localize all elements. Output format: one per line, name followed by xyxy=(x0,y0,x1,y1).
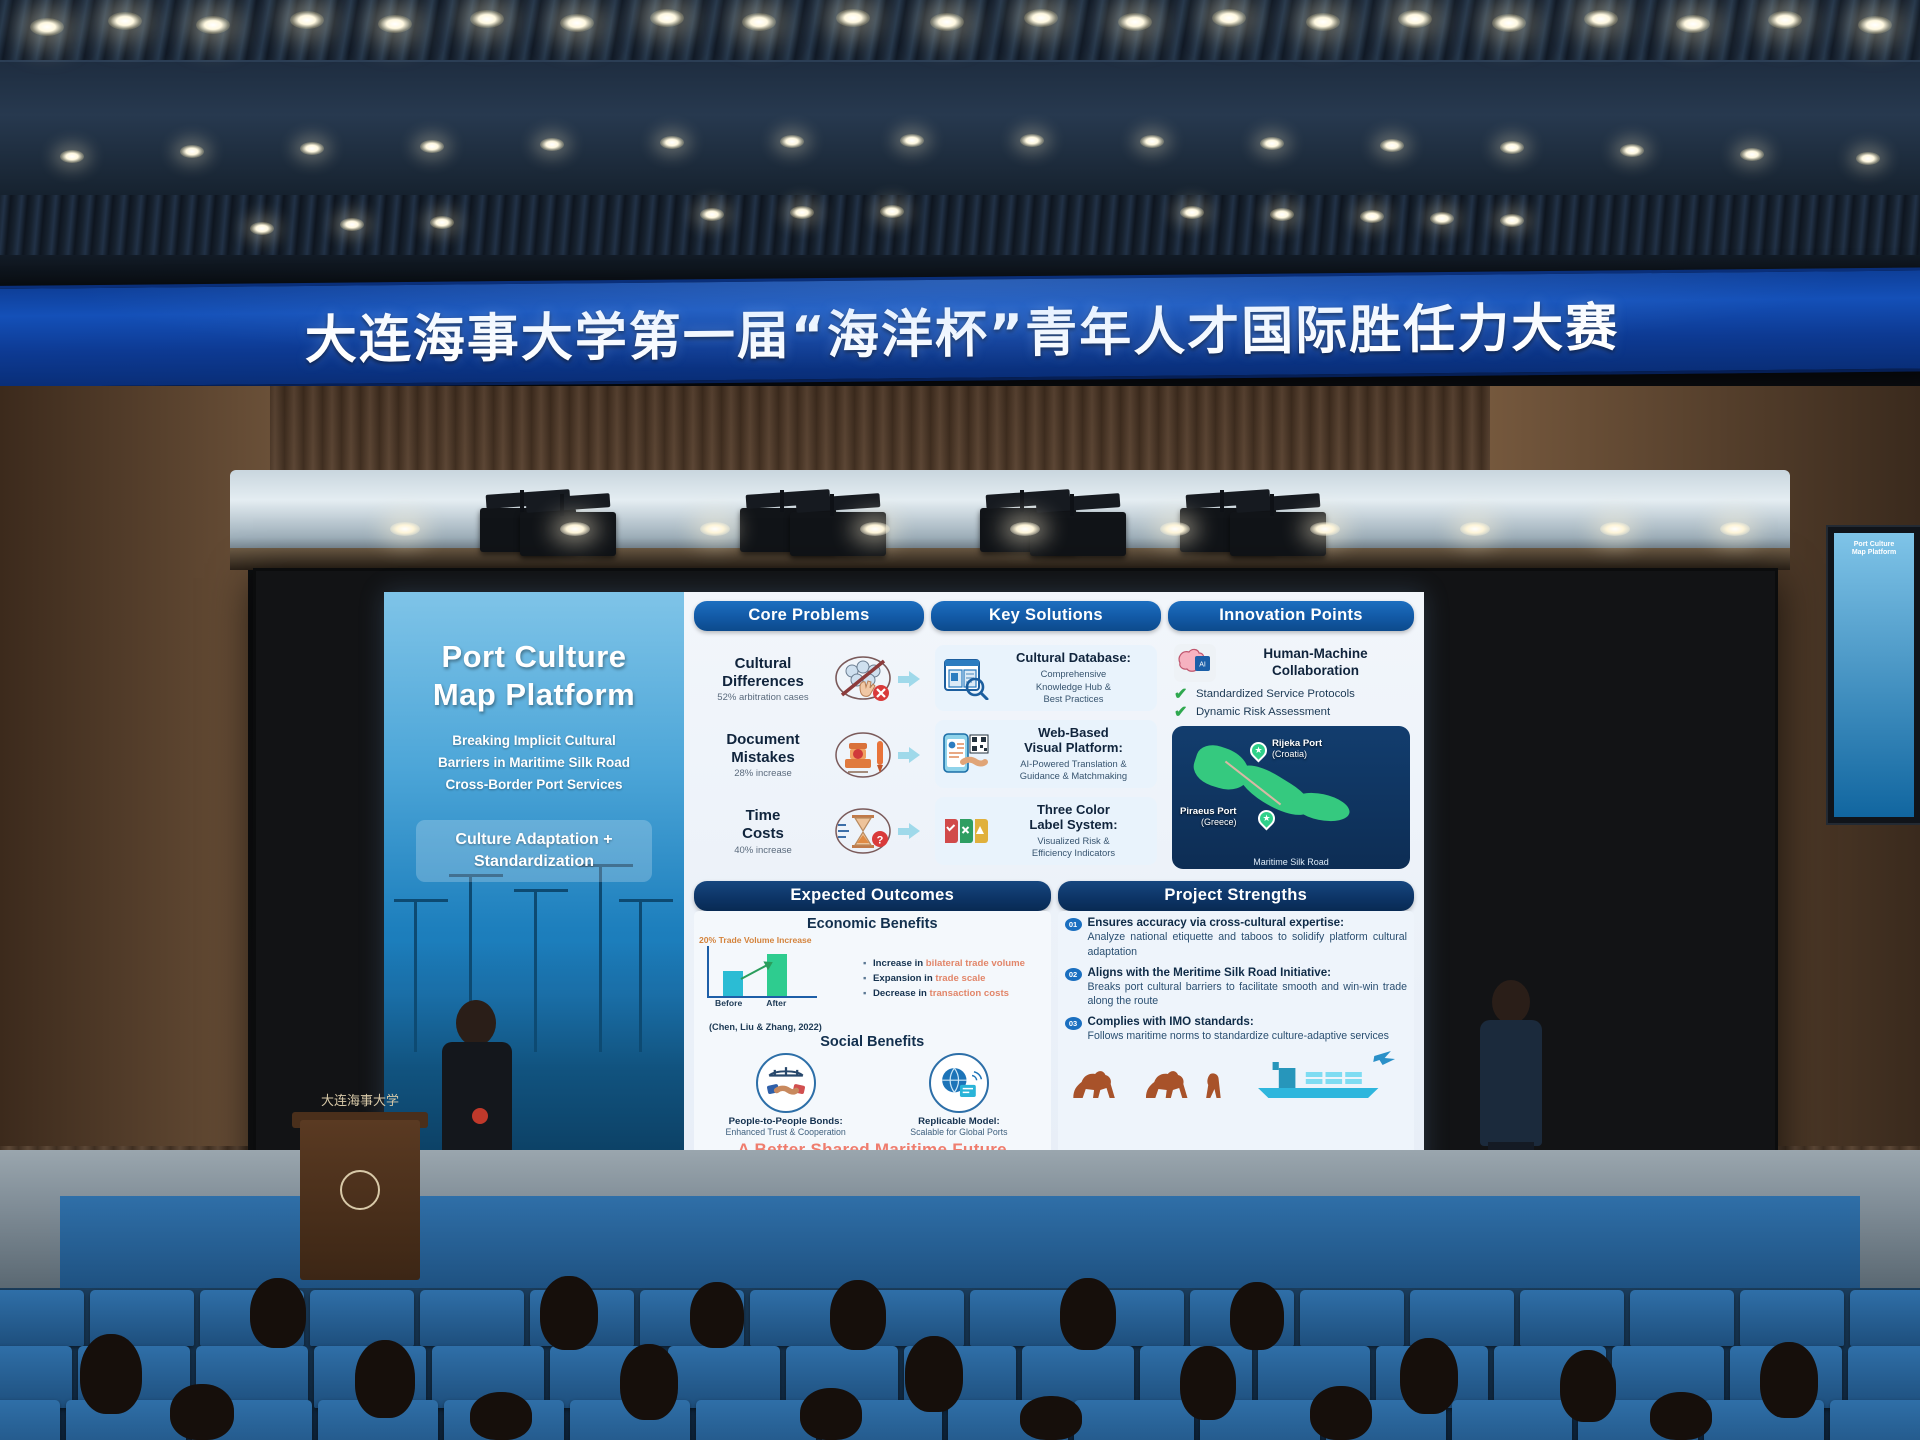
audience-member-head xyxy=(1020,1396,1082,1440)
slide-title-line1: Port Culture xyxy=(400,638,668,676)
auditorium-seat xyxy=(1830,1400,1920,1440)
chart-bar-before xyxy=(723,971,743,996)
no-crowd-hand-icon xyxy=(832,653,894,705)
port-crane xyxy=(414,902,417,1052)
audience-member-head xyxy=(1310,1386,1372,1440)
core-problem-text: CulturalDifferences52% arbitration cases xyxy=(698,655,828,703)
recessed-downlight xyxy=(1720,522,1750,536)
recessed-downlight xyxy=(1010,522,1040,536)
auditorium-seat xyxy=(1074,1400,1194,1440)
svg-text:AI: AI xyxy=(1199,662,1206,669)
recessed-downlight xyxy=(700,522,730,536)
slide-subtitle-line1: Breaking Implicit Cultural xyxy=(400,730,668,752)
auditorium-seat xyxy=(1300,1290,1404,1346)
auditorium-seat xyxy=(0,1346,72,1408)
stamp-pen-icon xyxy=(832,729,894,781)
presenter-head xyxy=(456,1000,496,1046)
audience-area xyxy=(0,1288,1920,1440)
side-monitor-title1: Port Culture xyxy=(1854,541,1894,548)
ceiling-downlight xyxy=(430,216,454,229)
ceiling-downlight xyxy=(780,135,804,148)
column-key-solutions: Key Solutions Cultural Database:Comprehe… xyxy=(931,601,1161,874)
ceiling-downlight xyxy=(660,136,684,149)
ceiling-downlight xyxy=(1140,135,1164,148)
ceiling-downlight xyxy=(60,150,84,163)
innovation-check-label: Standardized Service Protocols xyxy=(1196,687,1355,702)
ceiling-downlight xyxy=(900,134,924,147)
slide-title: Port Culture Map Platform xyxy=(400,638,668,714)
ceiling-band xyxy=(0,60,1920,195)
ceiling-downlight xyxy=(340,218,364,231)
ceiling-spotlight xyxy=(1306,13,1340,31)
audience-member-head xyxy=(470,1392,532,1440)
brain-ai-chip-icon: AI xyxy=(1174,644,1216,682)
ceiling-spotlight xyxy=(30,18,64,36)
map-label-rijeka-name: Rijeka Port xyxy=(1272,738,1322,749)
map-label-piraeus-country: (Greece) xyxy=(1201,817,1237,827)
port-crane-arm xyxy=(619,899,673,902)
ceiling-downlight xyxy=(1500,141,1524,154)
innovation-check-list: ✔Standardized Service Protocols✔Dynamic … xyxy=(1172,686,1410,722)
core-problem-text: DocumentMistakes28% increase xyxy=(698,731,828,779)
social-benefit-desc: Enhanced Trust & Cooperation xyxy=(720,1127,852,1137)
innovation-check-item: ✔Dynamic Risk Assessment xyxy=(1172,704,1410,722)
ceiling-spotlight xyxy=(290,11,324,29)
economic-benefits-citation: (Chen, Liu & Zhang, 2022) xyxy=(709,1022,1046,1032)
core-problem-text: TimeCosts40% increase xyxy=(698,807,828,855)
project-strength-text: Ensures accuracy via cross-cultural expe… xyxy=(1088,915,1408,958)
trade-volume-chart-caption: 20% Trade Volume Increase xyxy=(699,935,817,945)
audience-member-head xyxy=(1180,1346,1236,1420)
ceiling-spotlight xyxy=(1858,16,1892,34)
ceiling-downlight xyxy=(180,145,204,158)
podium-inscription: 大连海事大学 xyxy=(300,1090,420,1109)
auditorium-seat xyxy=(420,1290,524,1346)
ceiling-spotlight xyxy=(1118,13,1152,31)
ceiling-downlight xyxy=(1620,144,1644,157)
project-strength-number: 03 xyxy=(1065,1017,1082,1030)
mobile-qr-handshake-icon xyxy=(941,732,991,776)
key-solution-title: Web-BasedVisual Platform: xyxy=(996,725,1151,756)
port-crane xyxy=(534,892,537,1052)
map-label-rijeka: Rijeka Port (Croatia) xyxy=(1272,738,1322,760)
project-strength-title: Ensures accuracy via cross-cultural expe… xyxy=(1088,915,1408,930)
ceiling-downlight xyxy=(1380,139,1404,152)
social-benefits-row: People-to-People Bonds: Enhanced Trust &… xyxy=(699,1053,1046,1137)
auditorium-seat xyxy=(1740,1290,1844,1346)
audience-member-head xyxy=(905,1336,963,1412)
recessed-downlight xyxy=(1160,522,1190,536)
ceiling-downlight xyxy=(790,206,814,219)
slide-title-line2: Map Platform xyxy=(400,676,668,714)
key-solution-card: Cultural Database:ComprehensiveKnowledge… xyxy=(935,645,1157,710)
map-landmass-3 xyxy=(1290,788,1352,825)
project-strengths-header: Project Strengths xyxy=(1058,881,1415,911)
audience-member-head xyxy=(1760,1342,1818,1418)
ceiling-downlight xyxy=(1856,152,1880,165)
ceiling-spotlight xyxy=(742,13,776,31)
column-core-problems: Core Problems CulturalDifferences52% arb… xyxy=(694,601,924,874)
ceiling-spotlight xyxy=(378,15,412,33)
innovation-check-item: ✔Standardized Service Protocols xyxy=(1172,686,1410,704)
key-solution-title: Cultural Database: xyxy=(996,650,1151,666)
core-problem-row: CulturalDifferences52% arbitration cases xyxy=(698,653,920,705)
recessed-downlight xyxy=(860,522,890,536)
key-solution-desc: ComprehensiveKnowledge Hub &Best Practic… xyxy=(996,668,1151,706)
innovation-check-label: Dynamic Risk Assessment xyxy=(1196,705,1330,720)
project-strength-number: 01 xyxy=(1065,918,1082,931)
ceiling-downlight xyxy=(700,208,724,221)
key-solution-text: Web-BasedVisual Platform:AI-Powered Tran… xyxy=(996,725,1151,783)
ceiling-downlight xyxy=(1500,214,1524,227)
auditorium-seat xyxy=(970,1290,1074,1346)
key-solution-desc: Visualized Risk &Efficiency Indicators xyxy=(996,835,1151,860)
project-strengths-body: 01Ensures accuracy via cross-cultural ex… xyxy=(1058,911,1415,1164)
ceiling-spotlight xyxy=(1584,10,1618,28)
expected-outcomes-header: Expected Outcomes xyxy=(694,881,1051,911)
port-crane-arm xyxy=(514,889,568,892)
economic-benefits-bullets: Increase in bilateral trade volumeExpans… xyxy=(823,951,1046,1002)
event-banner-title: 大连海事大学第一届“海洋杯”青年人才国际胜任力大赛 xyxy=(304,285,1619,373)
ceiling-downlight xyxy=(420,140,444,153)
project-strengths-list: 01Ensures accuracy via cross-cultural ex… xyxy=(1065,915,1408,1043)
slide-hero-panel: Port Culture Map Platform Breaking Impli… xyxy=(384,592,684,1172)
ceiling-downlight xyxy=(1430,212,1454,225)
audience-member-head xyxy=(355,1340,415,1418)
ceiling-downlight xyxy=(1180,206,1204,219)
key-solution-title: Three ColorLabel System: xyxy=(996,802,1151,833)
column-innovation-points: Innovation Points AI Huma xyxy=(1168,601,1414,874)
ceiling-downlight xyxy=(1020,134,1044,147)
ceiling-spotlight xyxy=(560,14,594,32)
slide-top-columns: Core Problems CulturalDifferences52% arb… xyxy=(694,601,1414,874)
hourglass-question-icon: ? xyxy=(832,805,894,857)
map-caption: Maritime Silk Road xyxy=(1172,857,1410,867)
project-strength-desc: Analyze national etiquette and taboos to… xyxy=(1088,930,1408,958)
chart-tick-before: Before xyxy=(715,998,742,1008)
side-monitor-title2: Map Platform xyxy=(1852,549,1896,556)
auditorium-seat xyxy=(696,1400,816,1440)
staff-body xyxy=(1480,1020,1542,1146)
audience-member-head xyxy=(1650,1392,1712,1440)
silk-road-illustration xyxy=(1065,1048,1408,1104)
slide-keyword-badge: Culture Adaptation + Standardization xyxy=(416,820,652,881)
map-pin-rijeka: ★ xyxy=(1246,738,1270,762)
recessed-downlight xyxy=(560,522,590,536)
ceiling-spotlight xyxy=(1212,9,1246,27)
port-crane xyxy=(599,867,602,1052)
innovation-main-title-line2: Collaboration xyxy=(1223,663,1408,680)
ceiling-downlight xyxy=(1260,137,1284,150)
column-project-strengths: Project Strengths 01Ensures accuracy via… xyxy=(1058,881,1415,1164)
social-benefit-desc: Scalable for Global Ports xyxy=(893,1127,1025,1137)
container-ship-icon xyxy=(1258,1062,1378,1098)
audience-member-head xyxy=(250,1278,306,1348)
expected-outcomes-body: Economic Benefits 20% Trade Volume Incre… xyxy=(694,911,1051,1164)
audience-member-head xyxy=(1230,1282,1284,1350)
audience-member-head xyxy=(170,1384,234,1440)
project-strength-row: 01Ensures accuracy via cross-cultural ex… xyxy=(1065,915,1408,958)
key-solutions-header: Key Solutions xyxy=(931,601,1161,631)
audience-member-head xyxy=(830,1280,886,1350)
recessed-downlight xyxy=(1310,522,1340,536)
social-benefits-title: Social Benefits xyxy=(699,1034,1046,1050)
social-benefit-title: Replicable Model: xyxy=(893,1116,1025,1127)
keyword-line2: Standardization xyxy=(422,851,646,873)
project-strength-number: 02 xyxy=(1065,968,1082,981)
map-label-rijeka-country: (Croatia) xyxy=(1272,749,1307,759)
ceiling-spotlight xyxy=(1024,9,1058,27)
auditorium-seat xyxy=(668,1346,780,1408)
camel-caravan-icon xyxy=(1073,1071,1220,1098)
ceiling-downlight xyxy=(1360,210,1384,223)
airplane-icon xyxy=(1373,1051,1395,1065)
core-problem-note: 52% arbitration cases xyxy=(698,692,828,703)
slide-subtitle-line2: Barriers in Maritime Silk Road xyxy=(400,752,668,774)
core-problems-list: CulturalDifferences52% arbitration cases… xyxy=(694,636,924,874)
ceiling-downlight xyxy=(250,222,274,235)
innovation-main-title: Human-Machine Collaboration xyxy=(1223,646,1408,680)
project-strength-row: 03Complies with IMO standards:Follows ma… xyxy=(1065,1014,1408,1043)
auditorium-seat xyxy=(0,1400,60,1440)
university-seal xyxy=(340,1170,380,1210)
ceiling-spotlight xyxy=(1492,14,1526,32)
stage-spotlight-fixture xyxy=(1030,512,1126,556)
economic-benefits-title: Economic Benefits xyxy=(699,916,1046,932)
ceiling-downlight xyxy=(1740,148,1764,161)
recessed-downlight xyxy=(1460,522,1490,536)
ceiling-spotlight xyxy=(1768,11,1802,29)
economic-benefit-bullet: Expansion in trade scale xyxy=(863,972,1046,987)
innovation-points-header: Innovation Points xyxy=(1168,601,1414,631)
audience-member-head xyxy=(540,1276,598,1350)
economic-benefit-accent: bilateral trade volume xyxy=(926,958,1025,969)
map-label-piraeus: Piraeus Port (Greece) xyxy=(1180,806,1237,828)
social-benefit-title: People-to-People Bonds: xyxy=(720,1116,852,1127)
project-strength-desc: Breaks port cultural barriers to facilit… xyxy=(1088,980,1408,1008)
key-solution-desc: AI-Powered Translation &Guidance & Match… xyxy=(996,758,1151,783)
port-crane xyxy=(639,902,642,1052)
chart-axes xyxy=(707,946,817,998)
chart-tick-after: After xyxy=(766,998,786,1008)
key-solution-card: Web-BasedVisual Platform:AI-Powered Tran… xyxy=(935,720,1157,788)
core-problem-note: 28% increase xyxy=(698,768,828,779)
book-search-icon xyxy=(941,656,991,700)
key-solution-text: Cultural Database:ComprehensiveKnowledge… xyxy=(996,650,1151,705)
ceiling-downlight xyxy=(1270,208,1294,221)
audience-member-head xyxy=(80,1334,142,1414)
key-solution-text: Three ColorLabel System:Visualized Risk … xyxy=(996,802,1151,860)
core-problem-row: TimeCosts40% increase? xyxy=(698,805,920,857)
keyword-line1: Culture Adaptation + xyxy=(422,829,646,851)
innovation-main-item: AI Human-Machine Collaboration xyxy=(1172,641,1410,686)
ceiling-spotlight xyxy=(930,13,964,31)
map-label-piraeus-name: Piraeus Port xyxy=(1180,806,1237,817)
key-solution-card: Three ColorLabel System:Visualized Risk … xyxy=(935,797,1157,865)
project-strength-title: Complies with IMO standards: xyxy=(1088,1014,1389,1029)
economic-benefit-accent: transaction costs xyxy=(930,988,1009,999)
audience-member-head xyxy=(1560,1350,1616,1422)
key-solutions-list: Cultural Database:ComprehensiveKnowledge… xyxy=(931,636,1161,874)
ceiling-spotlight xyxy=(1398,10,1432,28)
slide-content: Core Problems CulturalDifferences52% arb… xyxy=(684,592,1424,1172)
slide-subtitle: Breaking Implicit Cultural Barriers in M… xyxy=(400,730,668,797)
core-problem-title: TimeCosts xyxy=(698,807,828,842)
ceiling-spotlight xyxy=(108,12,142,30)
audience-member-head xyxy=(1060,1278,1116,1350)
presentation-slide: Port Culture Map Platform Breaking Impli… xyxy=(384,592,1424,1172)
map-pin-piraeus: ★ xyxy=(1254,806,1278,830)
ceiling-spotlight xyxy=(196,16,230,34)
project-strength-text: Aligns with the Meritime Silk Road Initi… xyxy=(1088,965,1408,1008)
economic-benefits-row: 20% Trade Volume Increase Before After xyxy=(699,935,1046,1018)
auditorium-seat xyxy=(1452,1400,1572,1440)
presenter-badge xyxy=(472,1108,488,1124)
social-benefit-item: People-to-People Bonds: Enhanced Trust &… xyxy=(720,1053,852,1137)
check-icon: ✔ xyxy=(1174,705,1190,721)
column-expected-outcomes: Expected Outcomes Economic Benefits 20% … xyxy=(694,881,1051,1164)
side-monitor-content: Port Culture Map Platform xyxy=(1834,533,1914,817)
side-monitor: Port Culture Map Platform xyxy=(1826,525,1920,825)
social-benefit-item: Replicable Model: Scalable for Global Po… xyxy=(893,1053,1025,1137)
audience-member-head xyxy=(690,1282,744,1348)
project-strength-row: 02Aligns with the Meritime Silk Road Ini… xyxy=(1065,965,1408,1008)
svg-text:?: ? xyxy=(877,835,884,847)
auditorium-scene: 大连海事大学第一届“海洋杯”青年人才国际胜任力大赛 Port Culture M… xyxy=(0,0,1920,1440)
project-strength-desc: Follows maritime norms to standardize cu… xyxy=(1088,1029,1389,1043)
event-banner: 大连海事大学第一届“海洋杯”青年人才国际胜任力大赛 xyxy=(0,267,1920,390)
trade-volume-chart: 20% Trade Volume Increase Before After xyxy=(699,935,817,1008)
auditorium-seat xyxy=(1630,1290,1734,1346)
innovation-points-body: AI Human-Machine Collaboration ✔Standard… xyxy=(1168,636,1414,874)
ceiling-spotlight xyxy=(1676,15,1710,33)
slide-bottom-row: Expected Outcomes Economic Benefits 20% … xyxy=(694,881,1414,1164)
ceiling-spotlight xyxy=(470,10,504,28)
economic-benefit-bullet: Increase in bilateral trade volume xyxy=(863,957,1046,972)
stage-spotlight-fixture xyxy=(1230,512,1326,556)
core-problem-row: DocumentMistakes28% increase xyxy=(698,729,920,781)
chart-tick-labels: Before After xyxy=(715,998,817,1008)
flow-arrow-icon xyxy=(898,747,920,763)
ceiling-spotlight xyxy=(650,9,684,27)
ceiling-downlight xyxy=(540,138,564,151)
core-problem-note: 40% increase xyxy=(698,845,828,856)
recessed-downlight xyxy=(390,522,420,536)
globe-network-icon xyxy=(929,1053,989,1113)
staff-head xyxy=(1492,980,1530,1024)
auditorium-seat xyxy=(0,1290,84,1346)
recessed-downlight xyxy=(1600,522,1630,536)
check-icon: ✔ xyxy=(1174,687,1190,703)
auditorium-seat xyxy=(310,1290,414,1346)
auditorium-seat xyxy=(1850,1290,1920,1346)
core-problems-header: Core Problems xyxy=(694,601,924,631)
auditorium-seat xyxy=(1848,1346,1920,1408)
project-strength-text: Complies with IMO standards:Follows mari… xyxy=(1088,1014,1389,1043)
bridge-handshake-icon xyxy=(756,1053,816,1113)
flow-arrow-icon xyxy=(898,823,920,839)
audience-member-head xyxy=(800,1388,862,1440)
auditorium-seat xyxy=(1520,1290,1624,1346)
audience-member-head xyxy=(620,1344,678,1420)
economic-benefit-bullet: Decrease in transaction costs xyxy=(863,987,1046,1002)
core-problem-title: DocumentMistakes xyxy=(698,731,828,766)
core-problem-title: CulturalDifferences xyxy=(698,655,828,690)
ceiling-downlight xyxy=(880,205,904,218)
slide-subtitle-line3: Cross-Border Port Services xyxy=(400,774,668,796)
innovation-main-title-line1: Human-Machine xyxy=(1223,646,1408,663)
ceiling-downlight xyxy=(300,142,324,155)
flow-arrow-icon xyxy=(898,671,920,687)
economic-benefit-accent: trade scale xyxy=(935,973,985,984)
maritime-silk-road-map: ★ Rijeka Port (Croatia) ★ Piraeus Port (… xyxy=(1172,726,1410,869)
port-crane-arm xyxy=(394,899,448,902)
audience-member-head xyxy=(1400,1338,1458,1414)
three-color-tags-icon xyxy=(941,809,991,853)
project-strength-title: Aligns with the Meritime Silk Road Initi… xyxy=(1088,965,1408,980)
ceiling-spotlight xyxy=(836,9,870,27)
